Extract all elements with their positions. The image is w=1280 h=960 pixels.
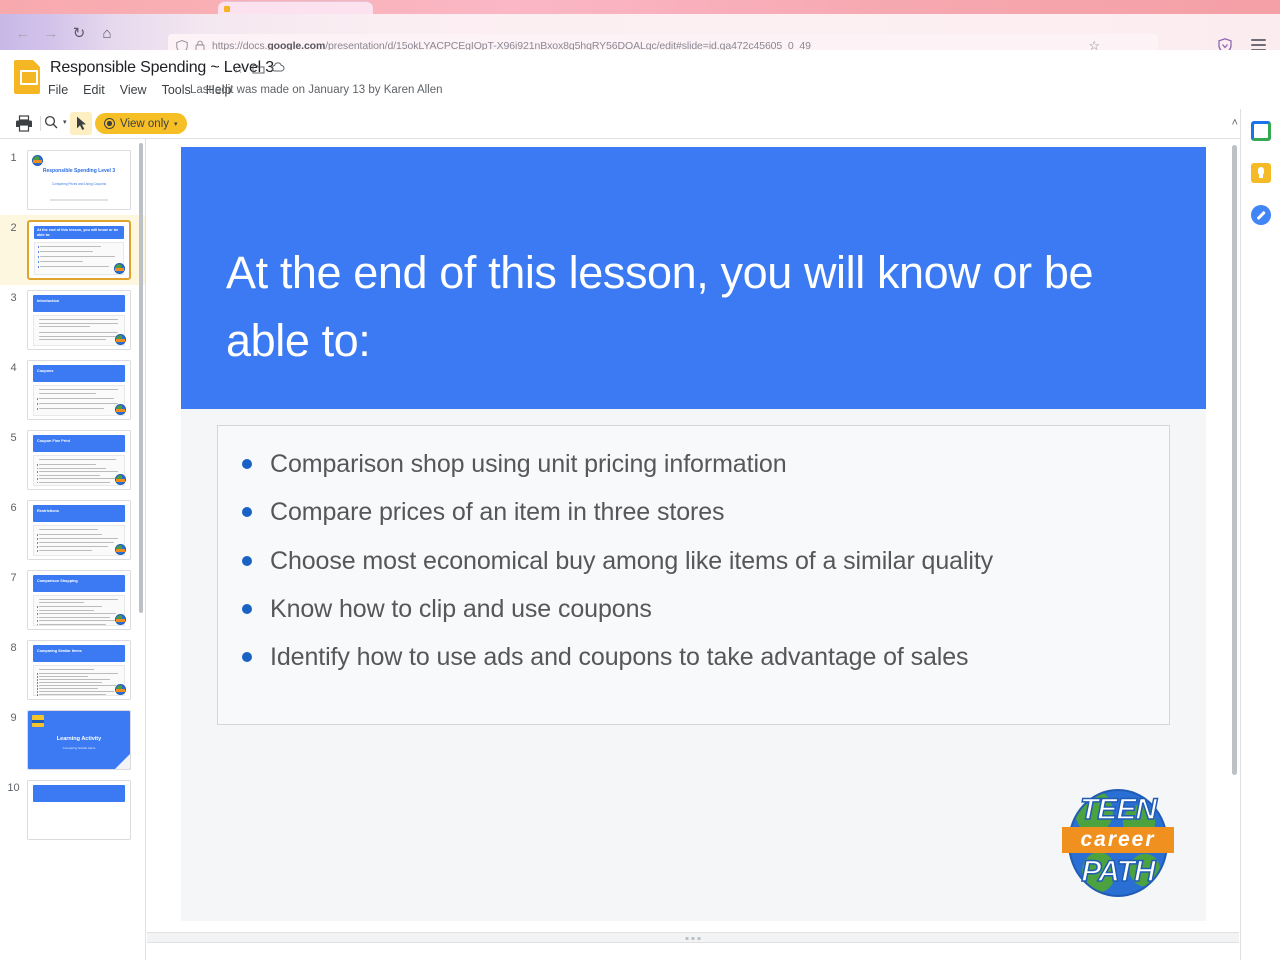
toolbar: ▾ View only ▾ ˄ xyxy=(0,108,1280,139)
back-icon[interactable]: ← xyxy=(12,22,34,44)
speaker-notes-splitter[interactable] xyxy=(147,932,1239,943)
filmstrip-slide-7[interactable]: 7 Comparison Shopping xyxy=(0,565,145,635)
bullet-text: Choose most economical buy among like it… xyxy=(270,543,993,579)
thumb-body-box xyxy=(33,595,125,626)
teen-career-path-logo-icon xyxy=(115,404,126,415)
slide-thumbnail[interactable]: Learning Activity Comparing Similar Item… xyxy=(27,710,131,770)
cursor-arrow-icon xyxy=(76,116,87,131)
view-only-chip[interactable]: View only ▾ xyxy=(95,113,187,134)
thumb-body-box xyxy=(33,315,125,346)
thumb-title: Responsible Spending Level 3 xyxy=(38,168,120,175)
bullet-list: Comparison shop using unit pricing infor… xyxy=(242,446,1153,687)
logo-line-career: career xyxy=(1062,828,1174,852)
teen-career-path-logo-icon: TEEN career PATH xyxy=(1062,783,1174,903)
zoom-dropdown-icon[interactable]: ▾ xyxy=(63,118,67,126)
teen-career-path-logo-icon xyxy=(115,684,126,695)
filmstrip-scrollbar[interactable] xyxy=(139,143,143,613)
eye-icon xyxy=(104,118,115,129)
filmstrip-slide-3[interactable]: 3 Introduction xyxy=(0,285,145,355)
thumb-body-box xyxy=(34,242,124,275)
calendar-glyph xyxy=(1256,126,1266,136)
splitter-grip-icon xyxy=(686,937,701,940)
teen-career-path-logo-icon xyxy=(115,334,126,345)
slide-thumbnail[interactable]: Coupons xyxy=(27,360,131,420)
thumb-body-box xyxy=(33,665,125,696)
select-cursor-tool[interactable] xyxy=(70,112,92,135)
bullet-item: Comparison shop using unit pricing infor… xyxy=(242,446,1153,482)
bullet-dot-icon xyxy=(242,604,252,614)
slide-thumbnail[interactable]: Introduction xyxy=(27,290,131,350)
slide-filmstrip[interactable]: 1 Responsible Spending Level 3 Comparing… xyxy=(0,139,146,960)
menu-tools[interactable]: Tools xyxy=(162,83,191,97)
bullet-dot-icon xyxy=(242,507,252,517)
slide-thumbnail[interactable]: At the end of this lesson, you will know… xyxy=(27,220,131,280)
slide-number: 5 xyxy=(0,430,27,444)
reload-icon[interactable]: ↻ xyxy=(68,22,90,44)
google-tasks-icon[interactable] xyxy=(1251,205,1271,225)
star-document-icon[interactable]: ☆ xyxy=(233,62,244,76)
filmstrip-slide-1[interactable]: 1 Responsible Spending Level 3 Comparing… xyxy=(0,145,145,215)
filmstrip-slide-6[interactable]: 6 Restrictions xyxy=(0,495,145,565)
teen-career-path-logo-icon xyxy=(115,474,126,485)
zoom-icon xyxy=(44,115,58,129)
slide-number: 8 xyxy=(0,640,27,654)
slide-thumbnail[interactable]: Restrictions xyxy=(27,500,131,560)
slide-number: 9 xyxy=(0,710,27,724)
move-to-folder-icon[interactable] xyxy=(252,62,265,75)
bullet-text: Compare prices of an item in three store… xyxy=(270,494,724,530)
thumb-title: Coupon Fine Print xyxy=(37,439,126,444)
cloud-saved-icon[interactable] xyxy=(271,62,285,73)
bullet-dot-icon xyxy=(242,556,252,566)
last-edit-status[interactable]: Last edit was made on January 13 by Kare… xyxy=(190,84,443,96)
collapse-toolbar-icon[interactable]: ˄ xyxy=(1232,117,1238,129)
google-slides-icon xyxy=(14,60,40,94)
speaker-notes-panel[interactable] xyxy=(147,943,1239,960)
slide-number: 1 xyxy=(0,150,27,164)
browser-tab-strip xyxy=(0,0,1280,14)
bullet-item: Know how to clip and use coupons xyxy=(242,591,1153,627)
bullet-item: Choose most economical buy among like it… xyxy=(242,543,1153,579)
tab-favicon xyxy=(224,6,230,12)
slide-thumbnail[interactable]: Responsible Spending Level 3 Comparing P… xyxy=(27,150,131,210)
thumb-header-band xyxy=(33,785,125,802)
teen-career-path-logo-icon xyxy=(115,544,126,555)
thumb-body-box xyxy=(33,525,125,556)
google-keep-icon[interactable] xyxy=(1251,163,1271,183)
slide-number: 7 xyxy=(0,570,27,584)
home-icon[interactable]: ⌂ xyxy=(96,22,118,44)
bullet-dot-icon xyxy=(242,459,252,469)
filmstrip-slide-5[interactable]: 5 Coupon Fine Print xyxy=(0,425,145,495)
slide-number: 6 xyxy=(0,500,27,514)
teen-career-path-logo-icon xyxy=(115,614,126,625)
app-header: Responsible Spending ~ Level 3 ☆ File Ed… xyxy=(0,50,1280,108)
teen-career-path-logo-icon xyxy=(32,715,44,727)
teen-career-path-logo-icon xyxy=(32,155,43,166)
slide-number: 3 xyxy=(0,290,27,304)
menu-edit[interactable]: Edit xyxy=(83,83,105,97)
view-only-dropdown-icon[interactable]: ▾ xyxy=(174,120,178,128)
menu-view[interactable]: View xyxy=(120,83,147,97)
current-slide[interactable]: At the end of this lesson, you will know… xyxy=(181,147,1206,921)
canvas-scrollbar[interactable] xyxy=(1232,145,1237,775)
browser-tab[interactable] xyxy=(218,1,373,14)
toolbar-divider xyxy=(40,116,41,131)
bullet-text: Comparison shop using unit pricing infor… xyxy=(270,446,787,482)
slide-thumbnail[interactable]: Coupon Fine Print xyxy=(27,430,131,490)
thumb-subtitle: Comparing Similar Items xyxy=(28,746,130,750)
filmstrip-slide-2[interactable]: 2 At the end of this lesson, you will kn… xyxy=(0,215,145,285)
slide-number: 4 xyxy=(0,360,27,374)
keep-glyph xyxy=(1259,174,1263,178)
slide-title-banner[interactable]: At the end of this lesson, you will know… xyxy=(181,147,1206,409)
thumb-title: Comparison Shopping xyxy=(37,579,126,584)
slide-thumbnail[interactable]: Comparing Similar Items xyxy=(27,640,131,700)
zoom-tool[interactable]: ▾ xyxy=(44,115,67,129)
slide-title[interactable]: At the end of this lesson, you will know… xyxy=(226,239,1126,376)
logo-line-path: PATH xyxy=(1062,855,1174,889)
slide-body-textbox[interactable]: Comparison shop using unit pricing infor… xyxy=(217,425,1170,725)
print-icon[interactable] xyxy=(15,115,33,132)
slide-thumbnail[interactable] xyxy=(27,780,131,840)
thumb-title: Comparing Similar Items xyxy=(37,649,126,654)
bullet-dot-icon xyxy=(242,652,252,662)
bullet-item: Identify how to use ads and coupons to t… xyxy=(242,639,1153,675)
browser-nav-bar: ← → ↻ ⌂ https://docs.google.com/presenta… xyxy=(0,14,1280,50)
side-panel-apps xyxy=(1240,109,1280,960)
bullet-item: Compare prices of an item in three store… xyxy=(242,494,1153,530)
slide-number: 2 xyxy=(0,220,27,234)
thumb-subtitle: Comparing Prices and Using Coupons xyxy=(36,182,122,186)
thumb-footer-line xyxy=(50,199,108,201)
google-calendar-icon[interactable] xyxy=(1251,121,1271,141)
thumb-title: Introduction xyxy=(37,299,126,304)
slide-number: 10 xyxy=(0,780,27,794)
thumb-title: Learning Activity xyxy=(28,736,130,742)
teen-career-path-logo-icon xyxy=(114,263,125,274)
menu-file[interactable]: File xyxy=(48,83,68,97)
view-only-label: View only xyxy=(120,118,169,130)
forward-icon[interactable]: → xyxy=(40,22,62,44)
bullet-text: Identify how to use ads and coupons to t… xyxy=(270,639,968,675)
slide-thumbnail[interactable]: Comparison Shopping xyxy=(27,570,131,630)
filmstrip-slide-9[interactable]: 9 Learning Activity Comparing Similar It… xyxy=(0,705,145,775)
filmstrip-slide-10[interactable]: 10 xyxy=(0,775,145,845)
logo-line-teen: TEEN xyxy=(1062,793,1174,827)
thumb-body-box xyxy=(33,385,125,416)
slide-canvas-area: At the end of this lesson, you will know… xyxy=(147,139,1239,932)
thumb-title: At the end of this lesson, you will know… xyxy=(37,228,123,238)
filmstrip-slide-8[interactable]: 8 Comparing Similar Items xyxy=(0,635,145,705)
thumb-title: Coupons xyxy=(37,369,126,374)
thumb-corner-fold xyxy=(115,754,130,769)
thumb-body-box xyxy=(33,455,125,486)
thumb-title: Restrictions xyxy=(37,509,126,514)
bullet-text: Know how to clip and use coupons xyxy=(270,591,652,627)
filmstrip-slide-4[interactable]: 4 Coupons xyxy=(0,355,145,425)
